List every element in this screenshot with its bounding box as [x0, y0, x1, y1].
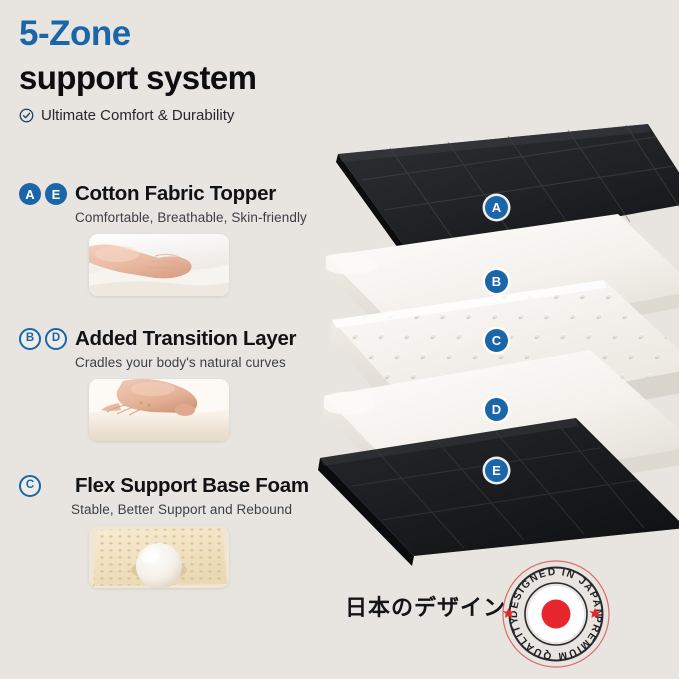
layer-marker-a[interactable]: A	[485, 196, 508, 219]
header-block: 5-Zone support system Ultimate Comfort &…	[19, 16, 439, 124]
feature-subtitle: Comfortable, Breathable, Skin-friendly	[75, 210, 349, 225]
hand-pressing-memory-foam-photo	[89, 379, 229, 441]
feature-block-flex-support-base-foam: C Flex Support Base Foam Stable, Better …	[19, 474, 349, 588]
layer-badge-b: B	[19, 328, 41, 350]
feature-heading-row: A E Cotton Fabric Topper	[19, 182, 349, 206]
layer-marker-b[interactable]: B	[485, 270, 508, 293]
japan-quality-seal-icon: DESIGNED IN JAPAN PREMIUM QUALITY	[500, 558, 612, 670]
feature-badges: A E	[19, 183, 67, 205]
layer-badge-d: D	[45, 328, 67, 350]
layer-marker-c[interactable]: C	[485, 329, 508, 352]
page-title-secondary: support system	[19, 60, 439, 96]
layer-marker-d[interactable]: D	[485, 398, 508, 421]
feature-thumbnail-hand-on-foam	[89, 379, 229, 441]
feature-badges: B D	[19, 328, 67, 350]
feature-title: Added Transition Layer	[75, 327, 296, 351]
feature-title: Cotton Fabric Topper	[75, 182, 276, 206]
feature-heading-row: B D Added Transition Layer	[19, 327, 349, 351]
feature-subtitle: Cradles your body's natural curves	[75, 355, 349, 370]
ball-on-perforated-foam-photo	[89, 526, 229, 588]
feature-title: Flex Support Base Foam	[75, 474, 309, 498]
feature-heading-row: C Flex Support Base Foam	[19, 474, 349, 498]
feature-block-cotton-fabric-topper: A E Cotton Fabric Topper Comfortable, Br…	[19, 182, 349, 296]
feature-thumbnail-ball-on-foam	[89, 526, 229, 588]
layer-marker-e[interactable]: E	[485, 459, 508, 482]
feature-badges: C	[19, 475, 41, 497]
layer-badge-a: A	[19, 183, 41, 205]
tagline-row: Ultimate Comfort & Durability	[19, 107, 439, 124]
feature-subtitle: Stable, Better Support and Rebound	[71, 502, 349, 517]
tagline-text: Ultimate Comfort & Durability	[41, 107, 234, 124]
feature-block-added-transition-layer: B D Added Transition Layer Cradles your …	[19, 327, 349, 441]
layer-badge-c: C	[19, 475, 41, 497]
infographic-canvas: 5-Zone support system Ultimate Comfort &…	[0, 0, 679, 679]
designed-in-japan-stamp: DESIGNED IN JAPAN PREMIUM QUALITY	[500, 558, 612, 670]
exploded-mattress-layer-diagram: A B C D E	[318, 128, 679, 548]
japanese-design-text: 日本のデザイン	[345, 590, 506, 622]
hand-on-white-fabric-photo	[89, 234, 229, 296]
feature-thumbnail-hand-on-fabric	[89, 234, 229, 296]
check-circle-icon	[19, 108, 34, 123]
layer-badge-e: E	[45, 183, 67, 205]
page-title-primary: 5-Zone	[19, 16, 439, 53]
